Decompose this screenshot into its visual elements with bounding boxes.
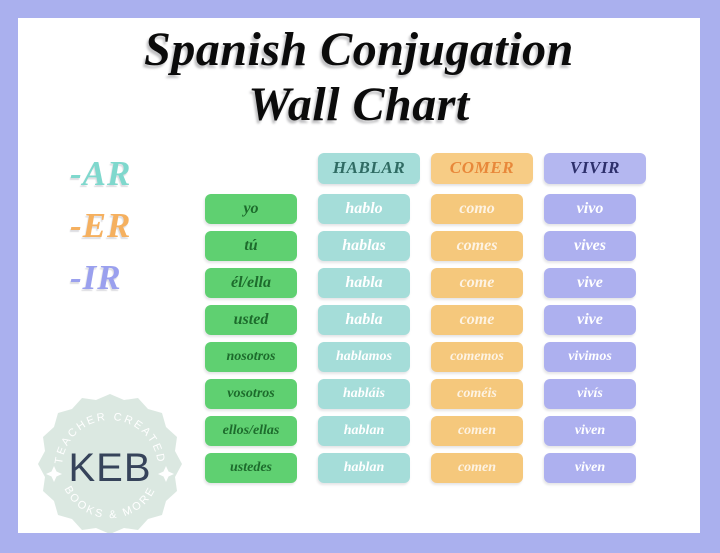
col-gap	[410, 393, 431, 394]
vivir-cell: vive	[544, 305, 636, 335]
col-gap	[410, 208, 431, 209]
vivir-cell: vivo	[544, 194, 636, 224]
col-gap	[297, 393, 318, 394]
column-header-comer: COMER	[431, 153, 533, 184]
col-gap	[523, 467, 544, 468]
table-row: vosotros habláis coméis vivís	[205, 375, 646, 412]
col-gap	[523, 245, 544, 246]
column-header-vivir: VIVIR	[544, 153, 646, 184]
hablar-cell: hablamos	[318, 342, 410, 372]
table-row: ellos/ellas hablan comen viven	[205, 412, 646, 449]
col-gap	[410, 430, 431, 431]
comer-cell: coméis	[431, 379, 523, 409]
vivir-cell: viven	[544, 453, 636, 483]
verb-endings-legend: -AR -ER -IR	[48, 148, 198, 304]
ending-er: -ER	[48, 200, 198, 252]
comer-cell: come	[431, 268, 523, 298]
col-gap	[410, 282, 431, 283]
title-line-1: Spanish Conjugation	[18, 26, 700, 75]
logo-monogram: KEB	[30, 388, 190, 533]
hablar-cell: hablo	[318, 194, 410, 224]
poster-frame: Spanish Conjugation Wall Chart -AR -ER -…	[0, 0, 720, 553]
table-row: él/ella habla come vive	[205, 264, 646, 301]
pronoun-cell: tú	[205, 231, 297, 261]
header-spacer	[205, 168, 318, 169]
col-gap	[297, 430, 318, 431]
vivir-cell: viven	[544, 416, 636, 446]
header-gap-2	[533, 168, 544, 169]
pronoun-cell: yo	[205, 194, 297, 224]
col-gap	[523, 319, 544, 320]
col-gap	[410, 356, 431, 357]
hablar-cell: hablas	[318, 231, 410, 261]
col-gap	[297, 282, 318, 283]
col-gap	[410, 245, 431, 246]
pronoun-cell: usted	[205, 305, 297, 335]
comer-cell: comes	[431, 231, 523, 261]
hablar-cell: hablan	[318, 416, 410, 446]
ending-ir: -IR	[48, 252, 198, 304]
chart-header-row: HABLAR COMER VIVIR	[205, 146, 646, 190]
comer-cell: comen	[431, 416, 523, 446]
pronoun-cell: nosotros	[205, 342, 297, 372]
col-gap	[410, 319, 431, 320]
table-row: usted habla come vive	[205, 301, 646, 338]
pronoun-cell: él/ella	[205, 268, 297, 298]
hablar-cell: habla	[318, 268, 410, 298]
title-line-2: Wall Chart	[18, 81, 700, 130]
col-gap	[523, 282, 544, 283]
pronoun-cell: vosotros	[205, 379, 297, 409]
poster-canvas: Spanish Conjugation Wall Chart -AR -ER -…	[18, 18, 700, 533]
col-gap	[297, 319, 318, 320]
hablar-cell: habláis	[318, 379, 410, 409]
table-row: yo hablo como vivo	[205, 190, 646, 227]
ending-ar: -AR	[48, 148, 198, 200]
vivir-cell: vive	[544, 268, 636, 298]
comer-cell: como	[431, 194, 523, 224]
logo-badge: TEACHER CREATED BOOKS & MORE KEB	[30, 388, 190, 533]
vivir-cell: vivís	[544, 379, 636, 409]
table-row: nosotros hablamos comemos vivimos	[205, 338, 646, 375]
hablar-cell: hablan	[318, 453, 410, 483]
column-header-hablar: HABLAR	[318, 153, 420, 184]
col-gap	[523, 393, 544, 394]
col-gap	[297, 356, 318, 357]
table-row: tú hablas comes vives	[205, 227, 646, 264]
col-gap	[523, 208, 544, 209]
conjugation-chart: HABLAR COMER VIVIR yo hablo como vivo tú…	[205, 146, 646, 486]
col-gap	[523, 356, 544, 357]
comer-cell: comemos	[431, 342, 523, 372]
vivir-cell: vivimos	[544, 342, 636, 372]
page-title: Spanish Conjugation Wall Chart	[18, 26, 700, 130]
col-gap	[523, 430, 544, 431]
col-gap	[297, 467, 318, 468]
header-gap-1	[420, 168, 431, 169]
pronoun-cell: ellos/ellas	[205, 416, 297, 446]
col-gap	[410, 467, 431, 468]
hablar-cell: habla	[318, 305, 410, 335]
comer-cell: come	[431, 305, 523, 335]
col-gap	[297, 245, 318, 246]
pronoun-cell: ustedes	[205, 453, 297, 483]
comer-cell: comen	[431, 453, 523, 483]
vivir-cell: vives	[544, 231, 636, 261]
col-gap	[297, 208, 318, 209]
table-row: ustedes hablan comen viven	[205, 449, 646, 486]
